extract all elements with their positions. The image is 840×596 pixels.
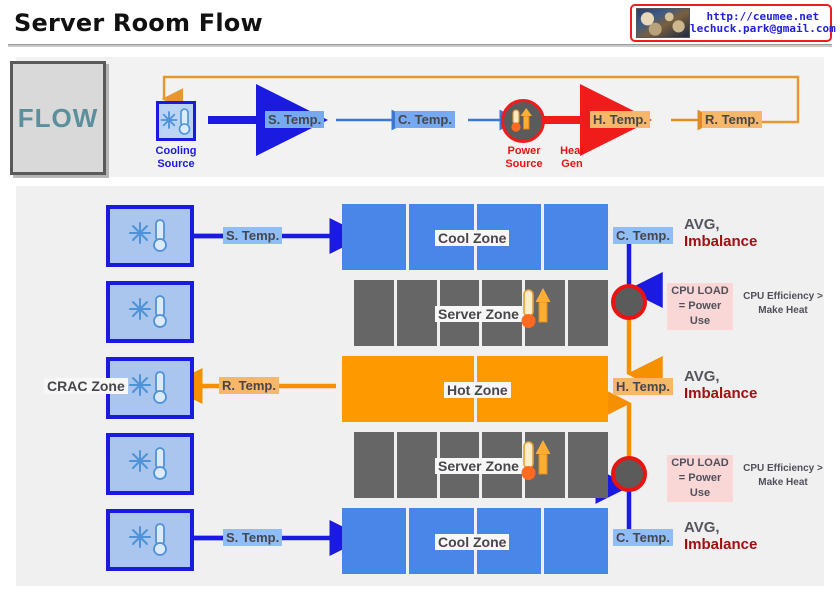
flow-chip-h-temp[interactable]: H. Temp. — [590, 111, 650, 128]
server-room-diagram: CRAC Zone Cool Zone Server Zone Hot Zone — [16, 186, 824, 586]
flow-chip-c-temp[interactable]: C. Temp. — [395, 111, 455, 128]
cooling-source-icon[interactable] — [156, 101, 196, 141]
server-zone-bottom-label: Server Zone — [435, 458, 522, 474]
chip-c-temp-top[interactable]: C. Temp. — [613, 227, 673, 244]
cpu-efficiency-note-top: CPU Efficiency > Make Heat — [740, 290, 826, 318]
chip-r-temp-mid[interactable]: R. Temp. — [219, 377, 279, 394]
avg-line-1: AVG, — [684, 368, 757, 385]
crac-zone-label: CRAC Zone — [44, 378, 128, 394]
chip-s-temp-top[interactable]: S. Temp. — [223, 227, 282, 244]
contact-email[interactable]: lechuck.park@gmail.com — [690, 23, 836, 35]
snowflake-thermometer-icon — [126, 519, 174, 561]
zone-segment — [397, 280, 437, 346]
crac-unit-5[interactable] — [106, 509, 194, 571]
cpu-load-note-top: CPU LOAD = Power Use — [667, 283, 733, 330]
zone-segment — [544, 204, 608, 270]
crac-unit-1[interactable] — [106, 205, 194, 267]
flow-chip-r-temp[interactable]: R. Temp. — [702, 111, 762, 128]
avg-line-2: Imbalance — [684, 385, 757, 402]
zone-segment — [342, 508, 406, 574]
crac-unit-4[interactable] — [106, 433, 194, 495]
avg-imbalance-mid: AVG, Imbalance — [684, 368, 757, 403]
cool-zone-top-label: Cool Zone — [435, 230, 509, 246]
server-zone-top-heat-icon — [520, 286, 552, 343]
zone-segment — [342, 204, 406, 270]
cpu-load-note-bottom: CPU LOAD = Power Use — [667, 455, 733, 502]
contact-text: http://ceumee.net lechuck.park@gmail.com — [690, 11, 836, 35]
cool-zone-bottom-label: Cool Zone — [435, 534, 509, 550]
flow-legend-strip: FLOW — [16, 57, 824, 177]
zone-segment — [397, 432, 437, 498]
avg-line-2: Imbalance — [684, 233, 757, 250]
avg-imbalance-bottom: AVG, Imbalance — [684, 519, 757, 554]
cpu-efficiency-note-bottom: CPU Efficiency > Make Heat — [740, 462, 826, 490]
avg-imbalance-top: AVG, Imbalance — [684, 216, 757, 251]
header-divider — [8, 44, 832, 47]
crac-unit-2[interactable] — [106, 281, 194, 343]
chip-h-temp-mid[interactable]: H. Temp. — [613, 378, 673, 395]
zone-segment — [568, 280, 608, 346]
snowflake-thermometer-icon — [126, 367, 174, 409]
avg-line-2: Imbalance — [684, 536, 757, 553]
photo-thumbnail-icon — [636, 8, 690, 38]
page-header: Server Room Flow http://ceumee.net lechu… — [0, 0, 840, 49]
avg-line-1: AVG, — [684, 519, 757, 536]
heat-gen-caption: Heat Gen — [544, 145, 600, 170]
zone-segment — [544, 508, 608, 574]
snowflake-thermometer-icon — [126, 291, 174, 333]
zone-segment — [354, 280, 394, 346]
power-source-icon[interactable] — [501, 99, 545, 143]
snowflake-thermometer-icon — [126, 443, 174, 485]
zone-segment — [568, 432, 608, 498]
page-title: Server Room Flow — [14, 9, 263, 37]
cooling-source-caption: Cooling Source — [144, 145, 208, 170]
chip-c-temp-bottom[interactable]: C. Temp. — [613, 529, 673, 546]
zone-segment — [354, 432, 394, 498]
server-zone-top-label: Server Zone — [435, 306, 522, 322]
flow-chip-s-temp[interactable]: S. Temp. — [265, 111, 324, 128]
hot-zone-label: Hot Zone — [444, 382, 511, 398]
chip-s-temp-bottom[interactable]: S. Temp. — [223, 529, 282, 546]
avg-line-1: AVG, — [684, 216, 757, 233]
contact-badge[interactable]: http://ceumee.net lechuck.park@gmail.com — [630, 4, 832, 42]
snowflake-thermometer-icon — [126, 215, 174, 257]
server-zone-bottom-heat-icon — [520, 438, 552, 495]
